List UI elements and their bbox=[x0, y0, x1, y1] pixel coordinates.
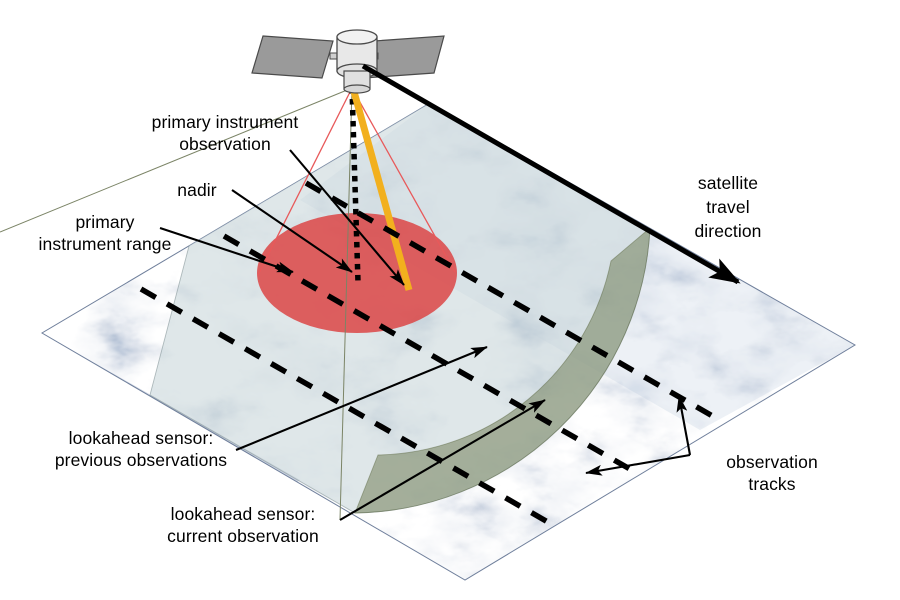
label-travel-direction-line2: travel bbox=[706, 197, 749, 217]
label-lookahead-current-line1: lookahead sensor: bbox=[171, 504, 316, 524]
diagram-canvas: primary instrument observation nadir pri… bbox=[0, 0, 900, 600]
label-observation-tracks-line1: observation bbox=[726, 452, 818, 472]
satellite bbox=[252, 30, 444, 93]
solar-panel-left bbox=[252, 36, 333, 78]
label-travel-direction-line3: direction bbox=[694, 221, 761, 241]
instrument-aperture bbox=[344, 85, 370, 93]
label-lookahead-current-line2: current observation bbox=[167, 526, 319, 546]
label-observation-tracks-line2: tracks bbox=[748, 474, 795, 494]
satellite-body-top bbox=[337, 30, 377, 44]
satellite-observation-diagram: primary instrument observation nadir pri… bbox=[0, 0, 900, 600]
label-primary-range-line1: primary bbox=[75, 212, 134, 232]
label-lookahead-previous-line1: lookahead sensor: bbox=[69, 428, 214, 448]
label-primary-observation-line2: observation bbox=[179, 134, 271, 154]
label-primary-range-line2: instrument range bbox=[39, 234, 172, 254]
label-lookahead-previous-line2: previous observations bbox=[55, 450, 227, 470]
label-primary-observation-line1: primary instrument bbox=[152, 112, 299, 132]
label-travel-direction-line1: satellite bbox=[698, 173, 758, 193]
label-nadir: nadir bbox=[177, 180, 216, 200]
